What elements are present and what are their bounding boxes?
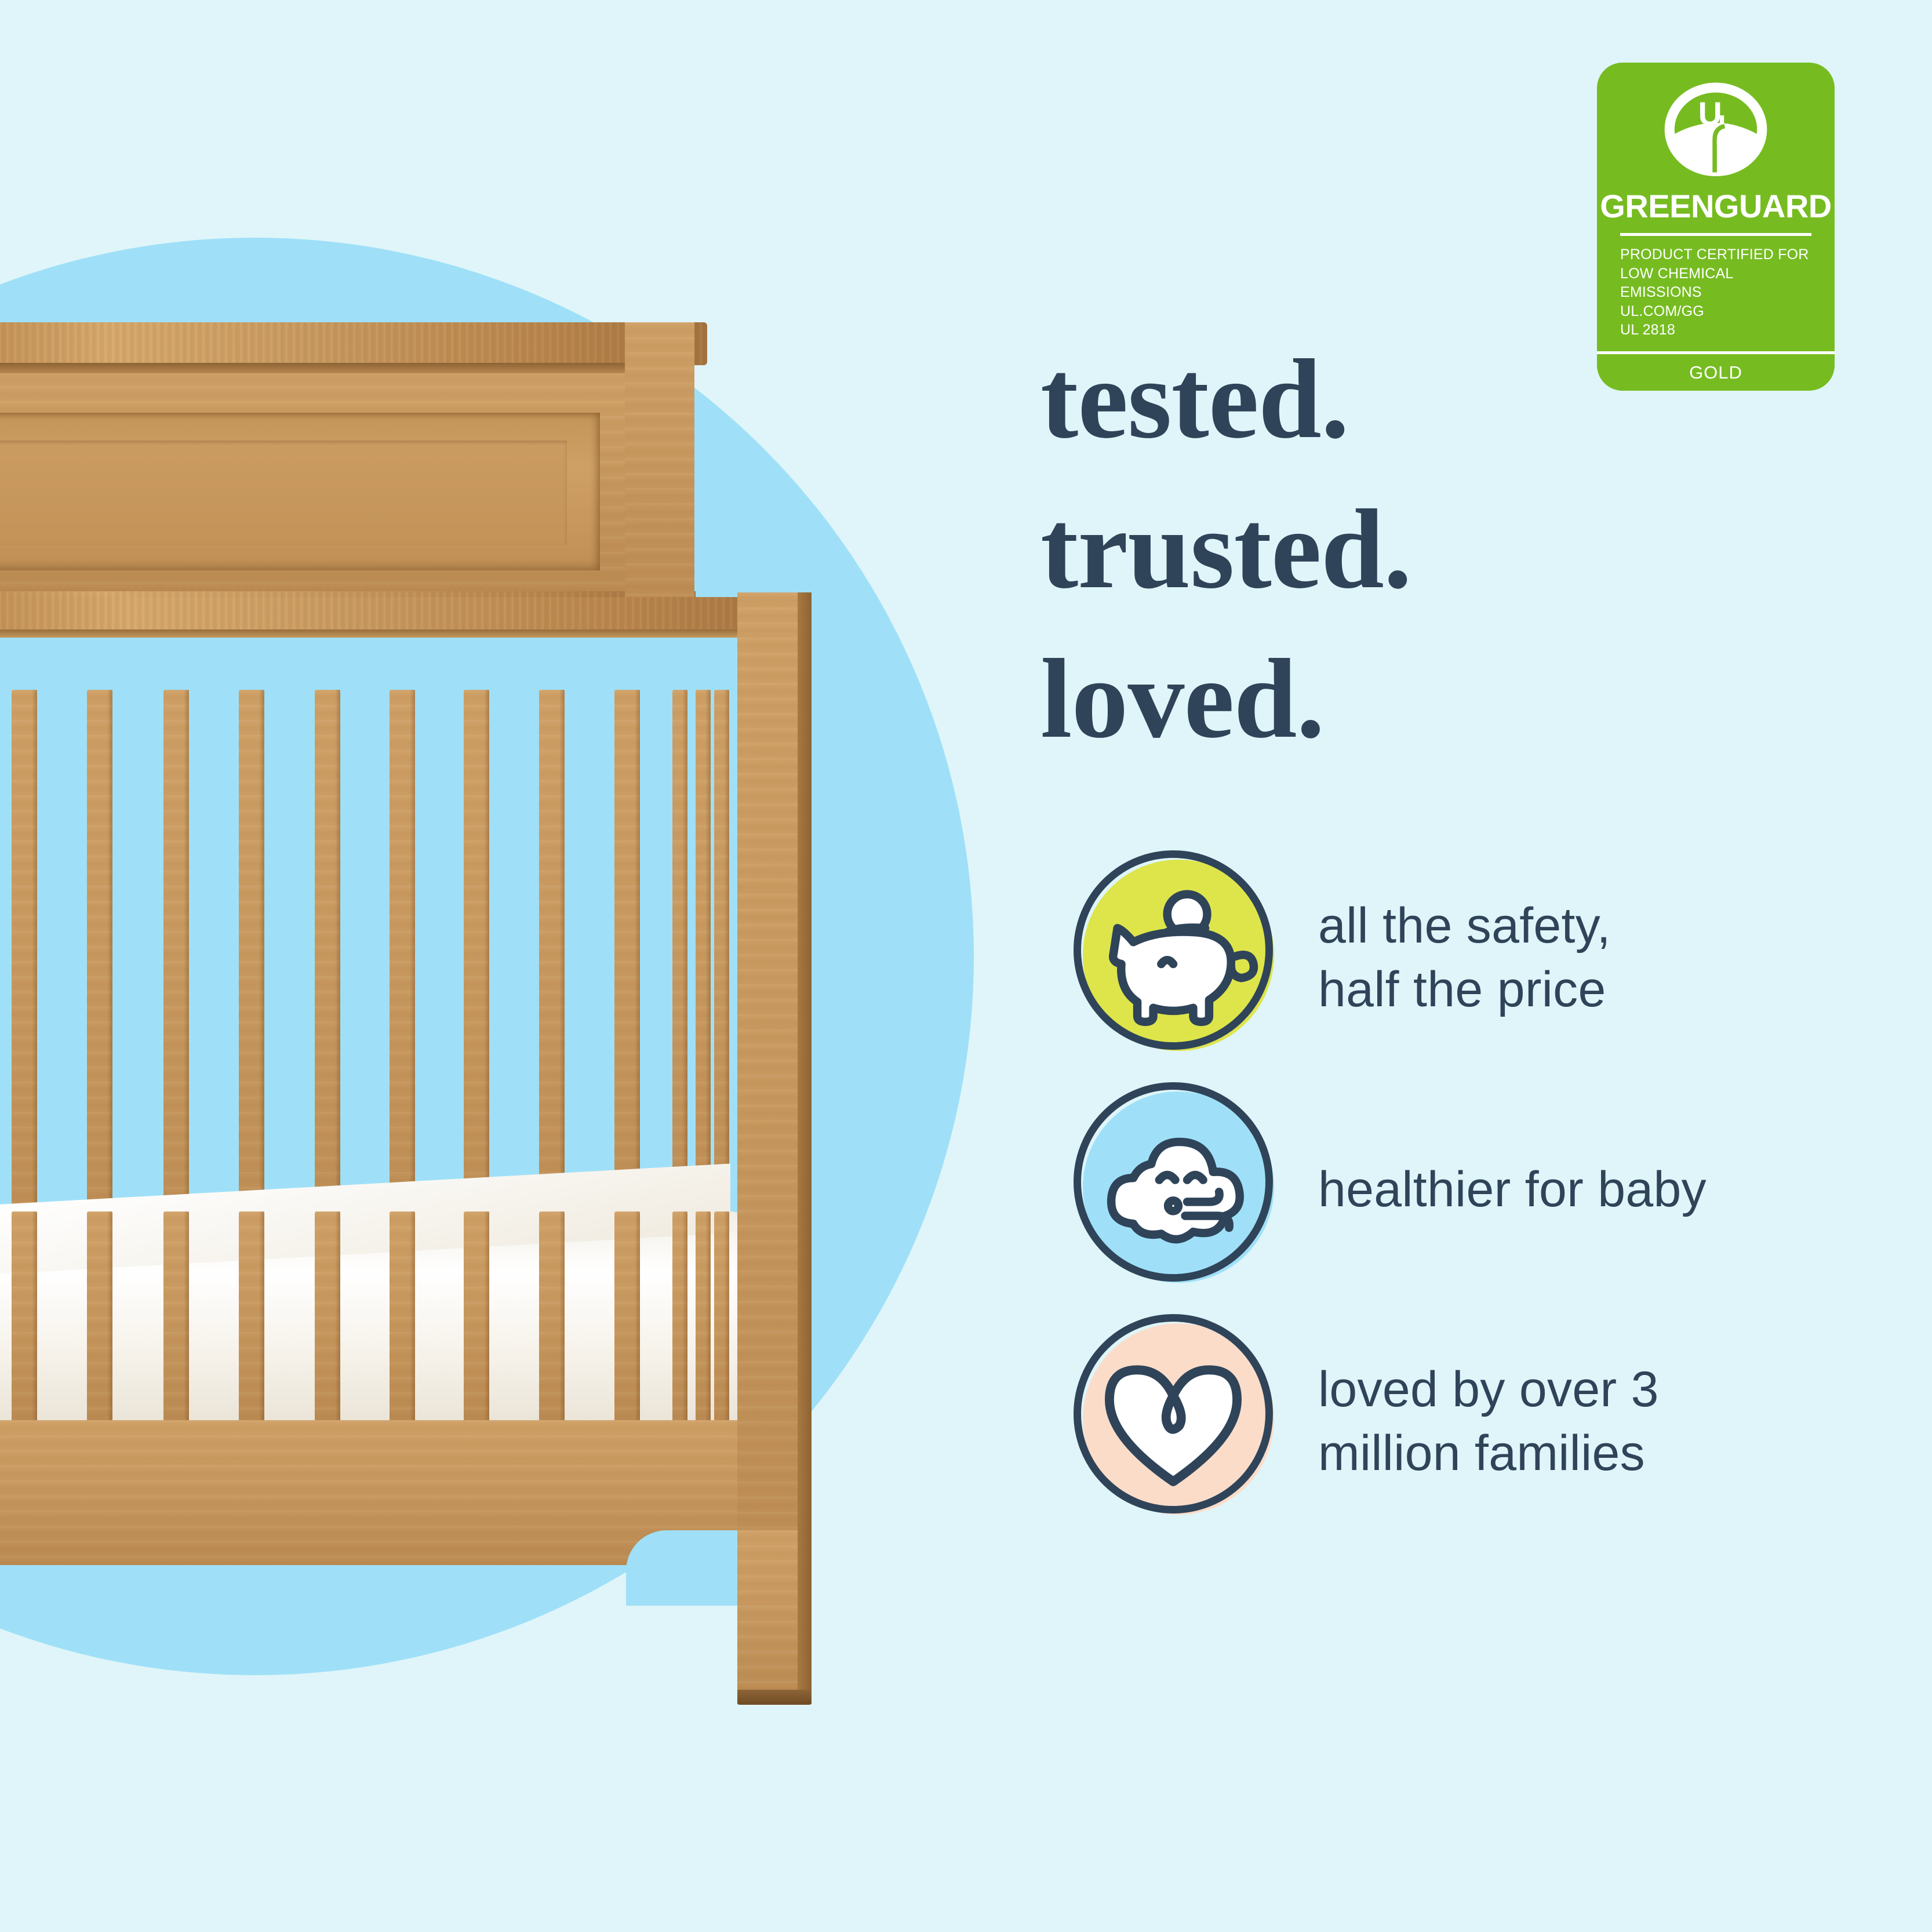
cloud-blowing-icon bbox=[1074, 1082, 1273, 1282]
crib-slat-front bbox=[614, 1211, 640, 1429]
headboard-top-rail bbox=[0, 322, 707, 365]
feature-label-line: half the price bbox=[1318, 958, 1611, 1021]
crib-slat-front bbox=[539, 1211, 565, 1429]
feature-item: healthier for baby bbox=[1067, 1074, 1866, 1305]
badge-divider bbox=[1620, 233, 1811, 236]
greenguard-gold-badge: U L GREENGUARD PRODUCT CERTIFIED FORLOW … bbox=[1597, 63, 1835, 391]
feature-label-line: loved by over 3 bbox=[1318, 1358, 1659, 1421]
badge-bottom-rule bbox=[1597, 351, 1835, 354]
side-rail-top-cap bbox=[0, 597, 812, 631]
feature-label-line: healthier for baby bbox=[1318, 1158, 1707, 1221]
feature-label: loved by over 3million families bbox=[1318, 1358, 1659, 1485]
headline-line: tested. bbox=[1040, 325, 1411, 475]
feature-icon-badge bbox=[1067, 1076, 1293, 1302]
crib-slat-front bbox=[464, 1211, 489, 1429]
crib-slat-front bbox=[714, 1211, 729, 1429]
side-rail-lip bbox=[0, 630, 806, 638]
badge-text-line: UL.COM/GG bbox=[1620, 302, 1811, 321]
badge-text-line: PRODUCT CERTIFIED FOR bbox=[1620, 245, 1811, 264]
crib-slat-front bbox=[315, 1211, 340, 1429]
badge-brand-name: GREENGUARD bbox=[1600, 190, 1831, 223]
feature-item: loved by over 3million families bbox=[1067, 1305, 1866, 1537]
headboard-rail-shadow bbox=[0, 363, 690, 373]
headboard-inner-panel bbox=[0, 441, 567, 545]
feature-label-line: all the safety, bbox=[1318, 894, 1611, 958]
headline-line: loved. bbox=[1040, 624, 1411, 774]
headline-line: trusted. bbox=[1040, 475, 1411, 625]
crib-leg-edge bbox=[798, 1530, 812, 1704]
crib-slat-front bbox=[12, 1211, 37, 1429]
crib-front-post-edge bbox=[798, 592, 812, 1688]
crib-slat-front bbox=[163, 1211, 189, 1429]
heart-icon bbox=[1074, 1314, 1273, 1513]
badge-text-line: UL 2818 bbox=[1620, 321, 1811, 340]
feature-label: healthier for baby bbox=[1318, 1158, 1707, 1221]
ul-leaf-icon: U L bbox=[1661, 78, 1771, 188]
feature-item: all the safety,half the price bbox=[1067, 842, 1866, 1074]
marketing-banner: U L GREENGUARD PRODUCT CERTIFIED FORLOW … bbox=[0, 0, 1932, 1932]
feature-list: all the safety,half the pricehealthier f… bbox=[1067, 842, 1866, 1537]
crib-slat-front bbox=[87, 1211, 112, 1429]
crib-slat-front bbox=[696, 1211, 711, 1429]
feature-icon-badge bbox=[1067, 1308, 1293, 1534]
page-headline: tested.trusted.loved. bbox=[1040, 325, 1411, 774]
badge-certification-text: PRODUCT CERTIFIED FORLOW CHEMICAL EMISSI… bbox=[1620, 245, 1811, 340]
crib-leg-foot bbox=[737, 1690, 812, 1705]
feature-icon-badge bbox=[1067, 845, 1293, 1071]
crib-slat-front bbox=[390, 1211, 415, 1429]
feature-label: all the safety,half the price bbox=[1318, 894, 1611, 1021]
badge-level: GOLD bbox=[1689, 362, 1742, 383]
piggy-bank-icon bbox=[1074, 850, 1273, 1050]
crib-slat-front bbox=[672, 1211, 687, 1429]
headboard-corner-post bbox=[625, 322, 694, 626]
feature-label-line: million families bbox=[1318, 1421, 1659, 1485]
crib-slat-front bbox=[239, 1211, 264, 1429]
badge-text-line: LOW CHEMICAL EMISSIONS bbox=[1620, 264, 1811, 302]
crib-product-image bbox=[0, 0, 904, 1932]
